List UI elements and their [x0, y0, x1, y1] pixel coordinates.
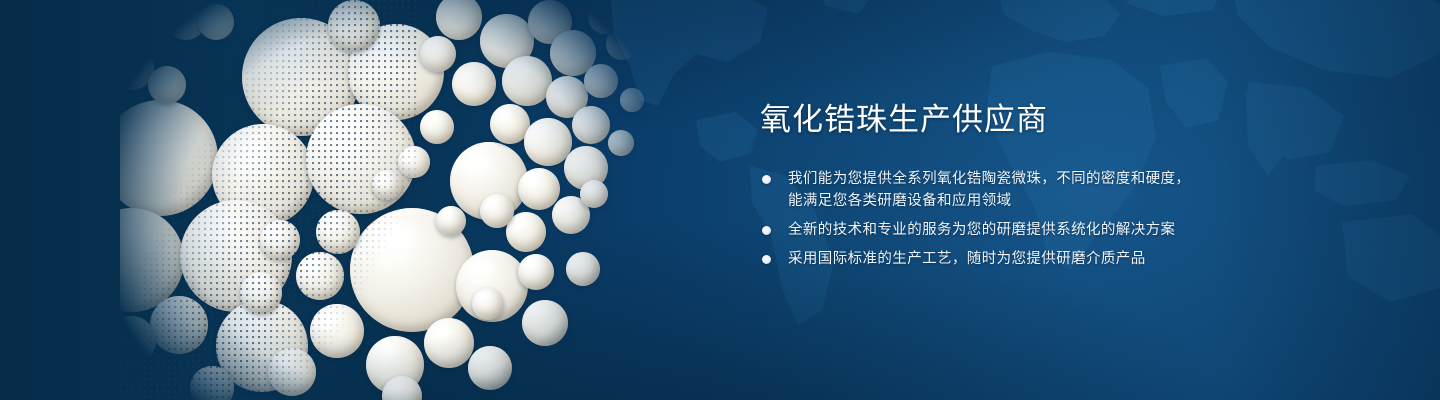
bead-cluster — [120, 0, 740, 400]
bead — [198, 4, 234, 40]
bullet-line-1: 我们能为您提供全系列氧化锆陶瓷微珠，不同的密度和硬度， — [788, 168, 1400, 190]
bead — [584, 64, 618, 98]
bead — [316, 210, 360, 254]
bead — [310, 304, 364, 358]
bead — [472, 288, 504, 320]
bead — [480, 194, 514, 228]
bullet-dot-icon — [762, 255, 771, 264]
banner-headline: 氧化锆珠生产供应商 — [760, 100, 1400, 140]
list-item: 采用国际标准的生产工艺，随时为您提供研磨介质产品 — [760, 248, 1400, 270]
bead — [518, 168, 560, 210]
bullet-line-1: 全新的技术和专业的服务为您的研磨提供系统化的解决方案 — [788, 219, 1400, 241]
list-item: 全新的技术和专业的服务为您的研磨提供系统化的解决方案 — [760, 219, 1400, 241]
bead — [452, 62, 496, 106]
bead — [436, 206, 466, 236]
bullet-dot-icon — [762, 226, 771, 235]
bead — [240, 272, 282, 314]
zirconia-bead-photo — [120, 0, 740, 400]
bead — [148, 66, 186, 104]
bead — [620, 88, 644, 112]
bead — [420, 36, 456, 72]
bead — [566, 252, 600, 286]
list-item: 我们能为您提供全系列氧化锆陶瓷微珠，不同的密度和硬度， 能满足您各类研磨设备和应… — [760, 168, 1400, 212]
bead — [420, 110, 454, 144]
bullet-line-2: 能满足您各类研磨设备和应用领域 — [788, 190, 1400, 212]
feature-bullet-list: 我们能为您提供全系列氧化锆陶瓷微珠，不同的密度和硬度， 能满足您各类研磨设备和应… — [760, 168, 1400, 270]
bead — [580, 180, 608, 208]
bead — [468, 346, 512, 390]
bead — [522, 300, 568, 346]
bead — [372, 170, 402, 200]
hero-banner: 氧化锆珠生产供应商 我们能为您提供全系列氧化锆陶瓷微珠，不同的密度和硬度， 能满… — [0, 0, 1440, 400]
bead — [398, 146, 430, 178]
bead — [572, 106, 610, 144]
bead — [150, 296, 208, 354]
bead — [120, 100, 218, 216]
banner-copy: 氧化锆珠生产供应商 我们能为您提供全系列氧化锆陶瓷微珠，不同的密度和硬度， 能满… — [760, 100, 1400, 270]
bead — [502, 56, 552, 106]
bead — [296, 252, 344, 300]
bead — [268, 348, 316, 396]
bead — [260, 220, 300, 260]
bead — [424, 318, 474, 368]
bead — [328, 0, 380, 52]
bead — [588, 0, 622, 34]
bead — [518, 254, 554, 290]
bullet-line-1: 采用国际标准的生产工艺，随时为您提供研磨介质产品 — [788, 248, 1400, 270]
bead — [608, 130, 634, 156]
bullet-dot-icon — [762, 175, 771, 184]
bead — [436, 0, 482, 40]
